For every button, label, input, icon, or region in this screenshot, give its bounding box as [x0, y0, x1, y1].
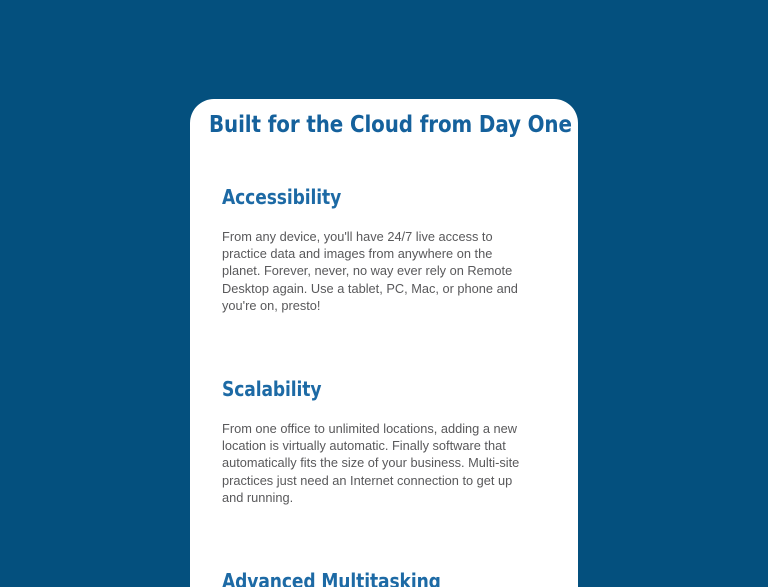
section-body: From one office to unlimited locations, … [222, 420, 530, 506]
section-heading: Accessibility [222, 185, 518, 209]
section-list: Accessibility From any device, you'll ha… [222, 185, 534, 587]
section-body: From any device, you'll have 24/7 live a… [222, 228, 530, 314]
section-accessibility: Accessibility From any device, you'll ha… [222, 185, 534, 314]
page-title: Built for the Cloud from Day One [209, 112, 572, 138]
section-heading: Advanced Multitasking [222, 569, 518, 587]
page-background: Built for the Cloud from Day One Accessi… [0, 0, 768, 587]
section-advanced-multitasking: Advanced Multitasking [222, 569, 534, 587]
section-scalability: Scalability From one office to unlimited… [222, 377, 534, 506]
section-heading: Scalability [222, 377, 518, 401]
content-card: Built for the Cloud from Day One Accessi… [190, 99, 578, 587]
